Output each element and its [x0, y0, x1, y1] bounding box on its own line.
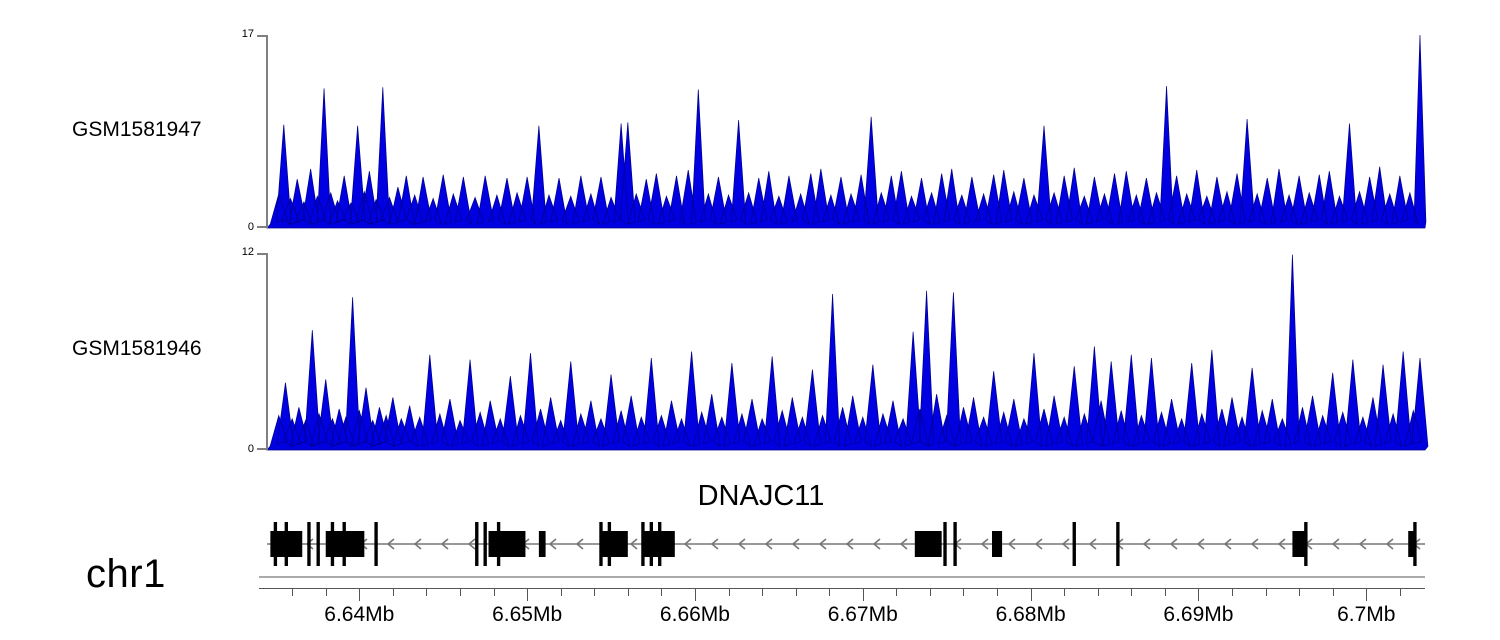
chromosome-label: chr1	[86, 552, 166, 597]
axis-tick-minor	[1131, 588, 1132, 596]
axis-tick-minor	[426, 588, 427, 596]
axis-tick-minor	[460, 588, 461, 596]
coverage-area	[267, 35, 1426, 228]
track-label-gsm1581946: GSM1581946	[72, 337, 202, 361]
axis-tick-minor	[963, 588, 964, 596]
track-label-gsm1581947: GSM1581947	[72, 118, 202, 142]
y-label-max-track-1: 17	[242, 29, 254, 40]
y-axis-track-2: 12 0	[266, 253, 268, 450]
axis-tick-minor	[292, 588, 293, 596]
exon-boundary	[943, 522, 946, 566]
exon-boundary	[374, 522, 377, 566]
axis-tick-minor	[628, 588, 629, 596]
exon-boundary	[484, 522, 487, 566]
axis-tick-major	[527, 588, 528, 601]
axis-tick-minor	[1064, 588, 1065, 596]
exon-boundary	[317, 522, 320, 566]
exon-block	[539, 531, 546, 557]
y-label-min-track-2: 0	[248, 444, 254, 455]
genome-browser-figure: GSM1581947 17 0 GSM1581946 12 0 DNAJC11 …	[0, 0, 1500, 640]
axis-tick-minor	[729, 588, 730, 596]
axis-tick-minor	[561, 588, 562, 596]
exon-boundary	[343, 522, 346, 566]
axis-tick-major	[1366, 588, 1367, 601]
exon-boundary	[497, 522, 500, 566]
exon-block	[643, 531, 675, 557]
exon-block	[601, 531, 628, 557]
axis-tick-label: 6.64Mb	[324, 603, 394, 627]
axis-tick-minor	[1299, 588, 1300, 596]
y-label-max-track-2: 12	[242, 247, 254, 258]
exon-block	[992, 531, 1002, 557]
axis-tick-minor	[1400, 588, 1401, 596]
exon-boundary	[1304, 522, 1307, 566]
gene-annotation-track: DNAJC11	[267, 480, 1425, 568]
axis-tick-minor	[326, 588, 327, 596]
exon-boundary	[274, 522, 277, 566]
coverage-track-1: 17 0	[267, 35, 1425, 228]
exon-boundary	[1073, 522, 1076, 566]
axis-tick-major	[695, 588, 696, 601]
axis-tick-minor	[594, 588, 595, 596]
gene-label: DNAJC11	[182, 480, 1340, 513]
exon-boundary	[475, 522, 478, 566]
exon-boundary	[285, 522, 288, 566]
axis-tick-minor	[494, 588, 495, 596]
axis-tick-major	[1031, 588, 1032, 601]
y-axis-track-1: 17 0	[266, 35, 268, 228]
y-label-min-track-1: 0	[248, 222, 254, 233]
axis-tick-minor	[930, 588, 931, 596]
coverage-plot-2	[267, 253, 1425, 450]
axis-tick-label: 6.7Mb	[1337, 603, 1395, 627]
axis-tick-major	[863, 588, 864, 601]
axis-tick-major	[359, 588, 360, 601]
exon-boundary	[307, 522, 310, 566]
y-tick-max-track-2	[257, 253, 268, 255]
axis-rule	[259, 576, 1425, 578]
axis-tick-minor	[896, 588, 897, 596]
axis-tick-minor	[762, 588, 763, 596]
axis-tick-label: 6.66Mb	[660, 603, 730, 627]
axis-tick-minor	[1098, 588, 1099, 596]
y-tick-min-track-1	[257, 226, 268, 228]
exon-block	[915, 531, 942, 557]
axis-tick-label: 6.67Mb	[828, 603, 898, 627]
axis-tick-minor	[796, 588, 797, 596]
coverage-plot-1	[267, 35, 1425, 228]
axis-tick-minor	[393, 588, 394, 596]
coverage-area	[267, 255, 1428, 450]
y-tick-max-track-1	[257, 35, 268, 37]
axis-baseline	[259, 588, 1425, 589]
axis-tick-label: 6.68Mb	[996, 603, 1066, 627]
exon-boundary	[953, 522, 956, 566]
axis-tick-minor	[661, 588, 662, 596]
exon-boundary	[1116, 522, 1119, 566]
exon-block	[1408, 531, 1415, 557]
genomic-coordinate-axis: 6.64Mb6.65Mb6.66Mb6.67Mb6.68Mb6.69Mb6.7M…	[267, 576, 1425, 640]
axis-tick-major	[1198, 588, 1199, 601]
gene-model-diagram	[267, 520, 1425, 568]
axis-tick-label: 6.65Mb	[492, 603, 562, 627]
axis-tick-minor	[829, 588, 830, 596]
exon-boundary	[331, 522, 334, 566]
axis-tick-label: 6.69Mb	[1163, 603, 1233, 627]
y-tick-min-track-2	[257, 448, 268, 450]
axis-tick-minor	[1232, 588, 1233, 596]
axis-tick-minor	[1165, 588, 1166, 596]
axis-tick-minor	[997, 588, 998, 596]
axis-tick-minor	[1333, 588, 1334, 596]
exon-block	[489, 531, 526, 557]
axis-tick-minor	[1266, 588, 1267, 596]
coverage-track-2: 12 0	[267, 253, 1425, 450]
